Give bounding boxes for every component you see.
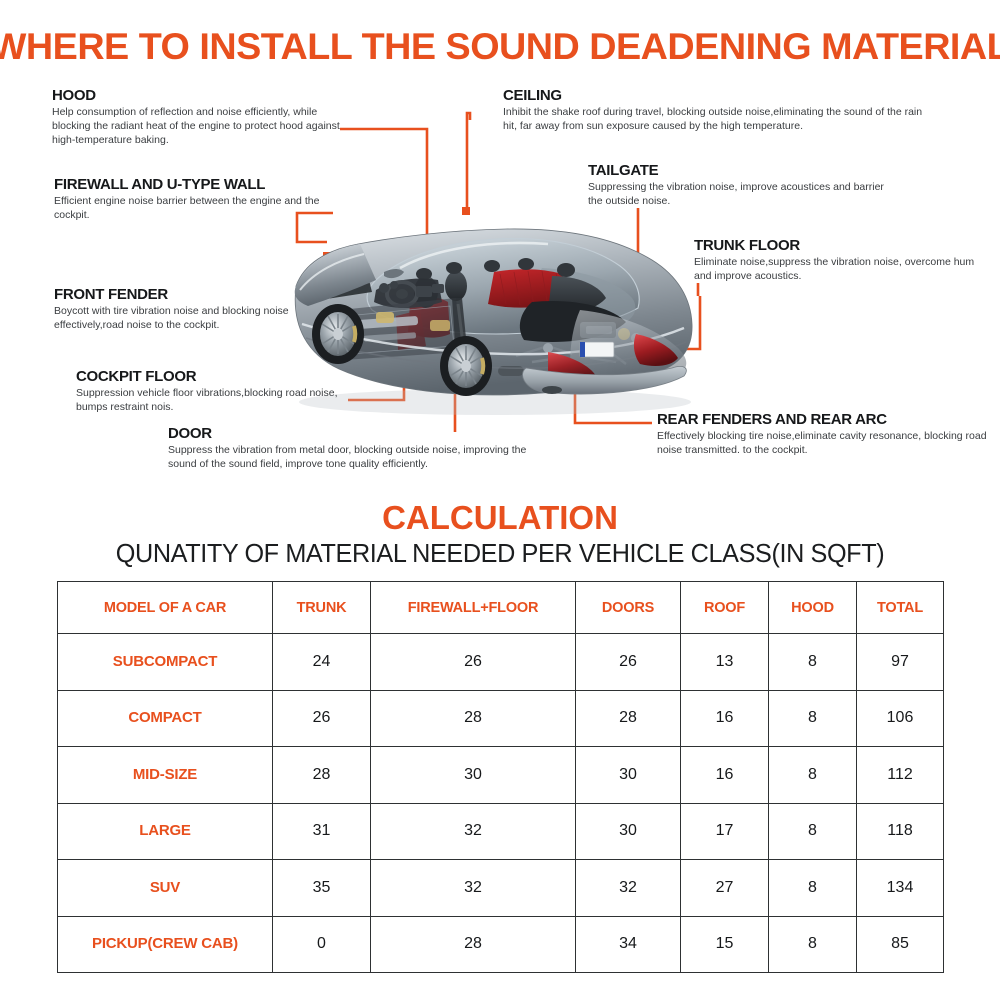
column-header-doors: DOORS: [576, 582, 681, 634]
cell-value: 16: [716, 709, 734, 726]
cell-model: LARGE: [58, 803, 273, 860]
cell-roof: 15: [681, 916, 769, 973]
cell-value: 15: [716, 935, 734, 952]
table-row: MID-SIZE 28 30 30 16 8 112: [58, 747, 944, 804]
cell-value: 134: [887, 879, 914, 896]
cell-hood: 8: [769, 803, 857, 860]
callout-door: DOOR Suppress the vibration from metal d…: [168, 425, 548, 472]
calculation-subheading: QUNATITY OF MATERIAL NEEDED PER VEHICLE …: [15, 538, 985, 569]
column-header-trunk-label: TRUNK: [297, 600, 347, 616]
callout-cockpit-floor: COCKPIT FLOOR Suppression vehicle floor …: [76, 368, 366, 415]
callout-trunk-floor-title: TRUNK FLOOR: [694, 237, 994, 254]
callout-hood-title: HOOD: [52, 87, 352, 104]
callout-firewall-title: FIREWALL AND U-TYPE WALL: [54, 176, 364, 193]
cell-trunk: 24: [273, 634, 371, 691]
cell-trunk: 35: [273, 860, 371, 917]
cell-model: SUV: [58, 860, 273, 917]
cell-value: 28: [464, 709, 482, 726]
callout-door-desc: Suppress the vibration from metal door, …: [168, 444, 540, 472]
cell-value: 8: [808, 879, 817, 896]
row-label: MID-SIZE: [133, 766, 197, 783]
calculation-heading: CALCULATION: [0, 499, 1000, 537]
cell-value: 28: [619, 709, 637, 726]
callout-rear-fenders-title: REAR FENDERS AND REAR ARC: [657, 411, 997, 428]
cell-firewall-floor: 28: [371, 916, 576, 973]
callout-front-fender: FRONT FENDER Boycott with tire vibration…: [54, 286, 334, 333]
callout-ceiling-title: CEILING: [503, 87, 933, 104]
table-header-row: MODEL OF A CAR TRUNK FIREWALL+FLOOR DOOR…: [58, 582, 944, 634]
table-row: SUBCOMPACT 24 26 26 13 8 97: [58, 634, 944, 691]
cell-value: 28: [313, 766, 331, 783]
cell-doors: 26: [576, 634, 681, 691]
column-header-hood: HOOD: [769, 582, 857, 634]
callout-cockpit-floor-desc: Suppression vehicle floor vibrations,blo…: [76, 387, 356, 415]
callout-trunk-floor: TRUNK FLOOR Eliminate noise,suppress the…: [694, 237, 994, 284]
callout-tailgate-title: TAILGATE: [588, 162, 908, 179]
cell-roof: 16: [681, 747, 769, 804]
cell-model: COMPACT: [58, 690, 273, 747]
cell-value: 8: [808, 766, 817, 783]
cell-hood: 8: [769, 690, 857, 747]
row-label: PICKUP(CREW CAB): [92, 935, 238, 952]
cell-value: 8: [808, 822, 817, 839]
table-row: LARGE 31 32 30 17 8 118: [58, 803, 944, 860]
cell-firewall-floor: 30: [371, 747, 576, 804]
cell-value: 16: [716, 766, 734, 783]
column-header-model-label: MODEL OF A CAR: [104, 600, 226, 616]
cell-value: 8: [808, 935, 817, 952]
cell-roof: 16: [681, 690, 769, 747]
cell-total: 118: [857, 803, 944, 860]
callout-rear-fenders: REAR FENDERS AND REAR ARC Effectively bl…: [657, 411, 997, 458]
table-row: SUV 35 32 32 27 8 134: [58, 860, 944, 917]
row-label: COMPACT: [128, 709, 201, 726]
cell-value: 0: [317, 935, 326, 952]
cell-total: 85: [857, 916, 944, 973]
row-label: SUV: [150, 879, 180, 896]
cell-hood: 8: [769, 747, 857, 804]
cell-roof: 13: [681, 634, 769, 691]
cell-total: 112: [857, 747, 944, 804]
cell-value: 8: [808, 653, 817, 670]
cell-firewall-floor: 28: [371, 690, 576, 747]
column-header-roof: ROOF: [681, 582, 769, 634]
material-quantity-table: MODEL OF A CAR TRUNK FIREWALL+FLOOR DOOR…: [57, 581, 944, 973]
cell-trunk: 0: [273, 916, 371, 973]
cell-value: 17: [716, 822, 734, 839]
cell-doors: 34: [576, 916, 681, 973]
column-header-model: MODEL OF A CAR: [58, 582, 273, 634]
cell-hood: 8: [769, 860, 857, 917]
callout-ceiling-desc: Inhibit the shake roof during travel, bl…: [503, 106, 927, 134]
cell-trunk: 26: [273, 690, 371, 747]
callout-firewall-desc: Efficient engine noise barrier between t…: [54, 195, 354, 223]
column-header-trunk: TRUNK: [273, 582, 371, 634]
column-header-total-label: TOTAL: [877, 600, 923, 616]
column-header-total: TOTAL: [857, 582, 944, 634]
cell-value: 97: [891, 653, 909, 670]
cell-total: 106: [857, 690, 944, 747]
table-row: COMPACT 26 28 28 16 8 106: [58, 690, 944, 747]
cell-roof: 27: [681, 860, 769, 917]
cell-firewall-floor: 26: [371, 634, 576, 691]
cell-doors: 30: [576, 747, 681, 804]
callout-cockpit-floor-title: COCKPIT FLOOR: [76, 368, 366, 385]
callout-rear-fenders-desc: Effectively blocking tire noise,eliminat…: [657, 430, 989, 458]
callout-firewall: FIREWALL AND U-TYPE WALL Efficient engin…: [54, 176, 364, 223]
cell-value: 26: [313, 709, 331, 726]
cell-doors: 28: [576, 690, 681, 747]
cell-value: 26: [619, 653, 637, 670]
cell-firewall-floor: 32: [371, 803, 576, 860]
cell-value: 26: [464, 653, 482, 670]
column-header-doors-label: DOORS: [602, 600, 654, 616]
cell-value: 30: [619, 766, 637, 783]
cell-model: MID-SIZE: [58, 747, 273, 804]
callout-hood-desc: Help consumption of reflection and noise…: [52, 106, 344, 148]
cell-value: 32: [464, 822, 482, 839]
callout-door-title: DOOR: [168, 425, 548, 442]
cell-model: PICKUP(CREW CAB): [58, 916, 273, 973]
cell-doors: 30: [576, 803, 681, 860]
column-header-firewall-floor-label: FIREWALL+FLOOR: [408, 600, 539, 616]
page-title: WHERE TO INSTALL THE SOUND DEADENING MAT…: [0, 26, 1000, 68]
callout-trunk-floor-desc: Eliminate noise,suppress the vibration n…: [694, 256, 980, 284]
cell-value: 8: [808, 709, 817, 726]
row-label: SUBCOMPACT: [113, 653, 217, 670]
callout-front-fender-title: FRONT FENDER: [54, 286, 334, 303]
cell-value: 85: [891, 935, 909, 952]
cell-hood: 8: [769, 916, 857, 973]
cell-value: 106: [887, 709, 914, 726]
cell-value: 32: [619, 879, 637, 896]
cell-value: 118: [887, 822, 913, 839]
cell-total: 97: [857, 634, 944, 691]
callout-tailgate: TAILGATE Suppressing the vibration noise…: [588, 162, 908, 209]
cell-firewall-floor: 32: [371, 860, 576, 917]
cell-value: 31: [313, 822, 331, 839]
cell-value: 35: [313, 879, 331, 896]
callout-ceiling: CEILING Inhibit the shake roof during tr…: [503, 87, 933, 134]
cell-value: 30: [619, 822, 637, 839]
cell-roof: 17: [681, 803, 769, 860]
cell-value: 13: [716, 653, 734, 670]
callout-front-fender-desc: Boycott with tire vibration noise and bl…: [54, 305, 322, 333]
cell-value: 30: [464, 766, 482, 783]
cell-trunk: 31: [273, 803, 371, 860]
row-label: LARGE: [139, 822, 191, 839]
cell-value: 34: [619, 935, 637, 952]
column-header-firewall-floor: FIREWALL+FLOOR: [371, 582, 576, 634]
column-header-hood-label: HOOD: [791, 600, 834, 616]
cell-value: 28: [464, 935, 482, 952]
table-row: PICKUP(CREW CAB) 0 28 34 15 8 85: [58, 916, 944, 973]
cell-total: 134: [857, 860, 944, 917]
cell-hood: 8: [769, 634, 857, 691]
cell-trunk: 28: [273, 747, 371, 804]
cell-value: 24: [313, 653, 331, 670]
cell-value: 27: [716, 879, 734, 896]
column-header-roof-label: ROOF: [704, 600, 745, 616]
infographic-page: WHERE TO INSTALL THE SOUND DEADENING MAT…: [0, 0, 1000, 1000]
cell-doors: 32: [576, 860, 681, 917]
cell-model: SUBCOMPACT: [58, 634, 273, 691]
callout-tailgate-desc: Suppressing the vibration noise, improve…: [588, 181, 888, 209]
callout-hood: HOOD Help consumption of reflection and …: [52, 87, 352, 148]
cell-value: 32: [464, 879, 482, 896]
cell-value: 112: [887, 766, 913, 783]
